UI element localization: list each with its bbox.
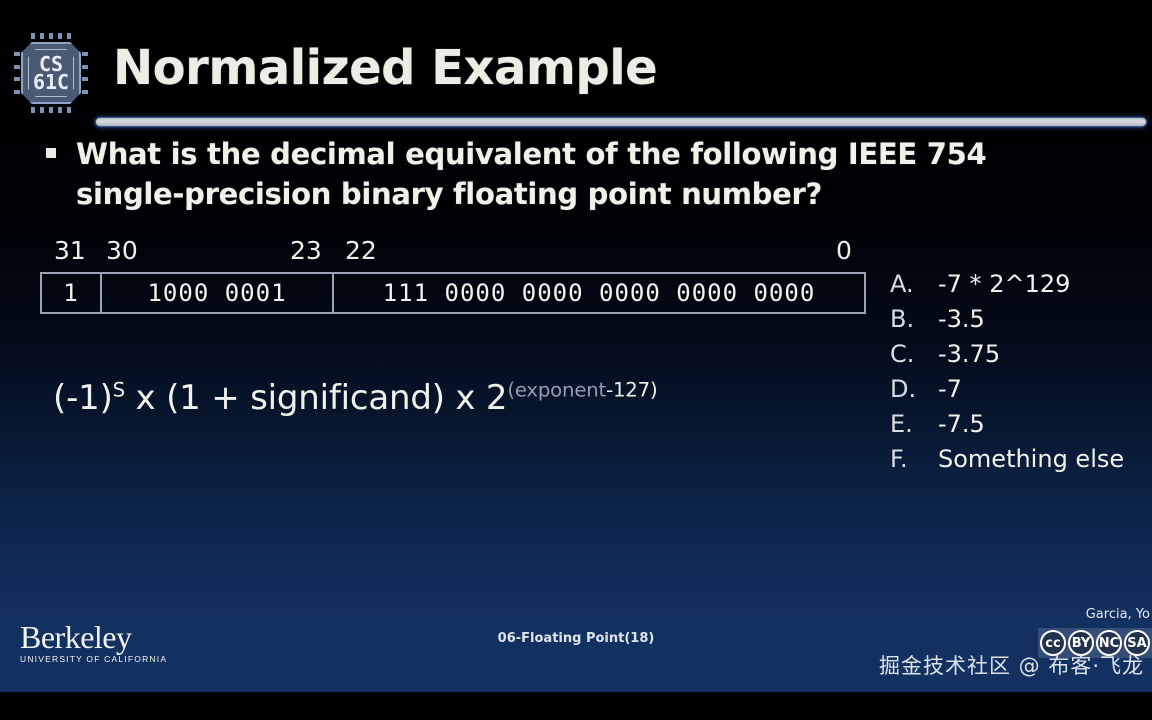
choice-b[interactable]: B. -3.5 — [890, 305, 1152, 340]
bit-label-0: 0 — [836, 236, 852, 265]
footer-lecture-label: 06-Floating Point(18) — [0, 631, 1152, 646]
chip-pins-left — [14, 52, 20, 94]
formula-bias-term: -127) — [606, 379, 657, 402]
choice-e-text: -7.5 — [938, 410, 985, 438]
question-block: What is the decimal equivalent of the fo… — [46, 134, 1046, 214]
choice-e[interactable]: E. -7.5 — [890, 410, 1152, 445]
footer-author: Garcia, Yo — [1086, 607, 1150, 622]
formula-exponent-term: (exponent — [507, 379, 606, 402]
choice-c-letter: C. — [890, 340, 938, 368]
logo-line-2: 61C — [33, 73, 69, 91]
formula-sign-exponent: S — [113, 379, 125, 402]
bitfield-exponent-cell: 1000 0001 — [102, 274, 334, 312]
chip-pins-right — [82, 52, 88, 94]
choice-d-text: -7 — [938, 375, 962, 403]
choice-b-letter: B. — [890, 305, 938, 333]
bit-label-31: 31 — [54, 236, 86, 265]
formula-exponent-superscript: (exponent-127) — [507, 379, 657, 402]
slide-canvas: CS 61C Normalized Example What is the de… — [0, 8, 1152, 692]
chip-pins-bottom — [31, 107, 71, 113]
choice-f[interactable]: F. Something else — [890, 445, 1152, 480]
choice-e-letter: E. — [890, 410, 938, 438]
choice-c[interactable]: C. -3.75 — [890, 340, 1152, 375]
choice-a-text: -7 * 2^129 — [938, 270, 1070, 298]
bitfield-mantissa-cell: 111 0000 0000 0000 0000 0000 — [334, 274, 864, 312]
choice-d-letter: D. — [890, 375, 938, 403]
bit-label-30: 30 — [106, 236, 138, 265]
bit-label-22: 22 — [345, 236, 377, 265]
bit-index-labels: 31 30 23 22 0 — [40, 236, 866, 268]
bit-label-23: 23 — [290, 236, 322, 265]
bitfield-table: 1 1000 0001 111 0000 0000 0000 0000 0000 — [40, 272, 866, 314]
formula-base: (-1) — [53, 378, 113, 418]
answer-choices: A. -7 * 2^129 B. -3.5 C. -3.75 D. -7 E. … — [890, 270, 1152, 480]
chip-body: CS 61C — [21, 42, 81, 104]
watermark-text: 掘金技术社区 @ 布客·飞龙 — [879, 650, 1144, 680]
choice-f-letter: F. — [890, 445, 938, 473]
chip-pins-top — [31, 33, 71, 39]
berkeley-subtitle: UNIVERSITY OF CALIFORNIA — [20, 654, 167, 664]
choice-d[interactable]: D. -7 — [890, 375, 1152, 410]
choice-c-text: -3.75 — [938, 340, 1000, 368]
cpu-chip-icon: CS 61C — [13, 32, 89, 114]
question-text: What is the decimal equivalent of the fo… — [76, 134, 1046, 214]
floating-point-formula: (-1)S x (1 + significand) x 2(exponent-1… — [53, 378, 657, 418]
square-bullet-icon — [46, 148, 56, 158]
choice-a-letter: A. — [890, 270, 938, 298]
slide-root: CS 61C Normalized Example What is the de… — [0, 0, 1152, 720]
title-divider — [96, 118, 1146, 126]
formula-middle: x (1 + significand) x 2 — [125, 378, 507, 418]
page-title: Normalized Example — [113, 40, 657, 96]
choice-b-text: -3.5 — [938, 305, 985, 333]
bitfield-sign-cell: 1 — [42, 274, 102, 312]
choice-f-text: Something else — [938, 445, 1124, 473]
choice-a[interactable]: A. -7 * 2^129 — [890, 270, 1152, 305]
